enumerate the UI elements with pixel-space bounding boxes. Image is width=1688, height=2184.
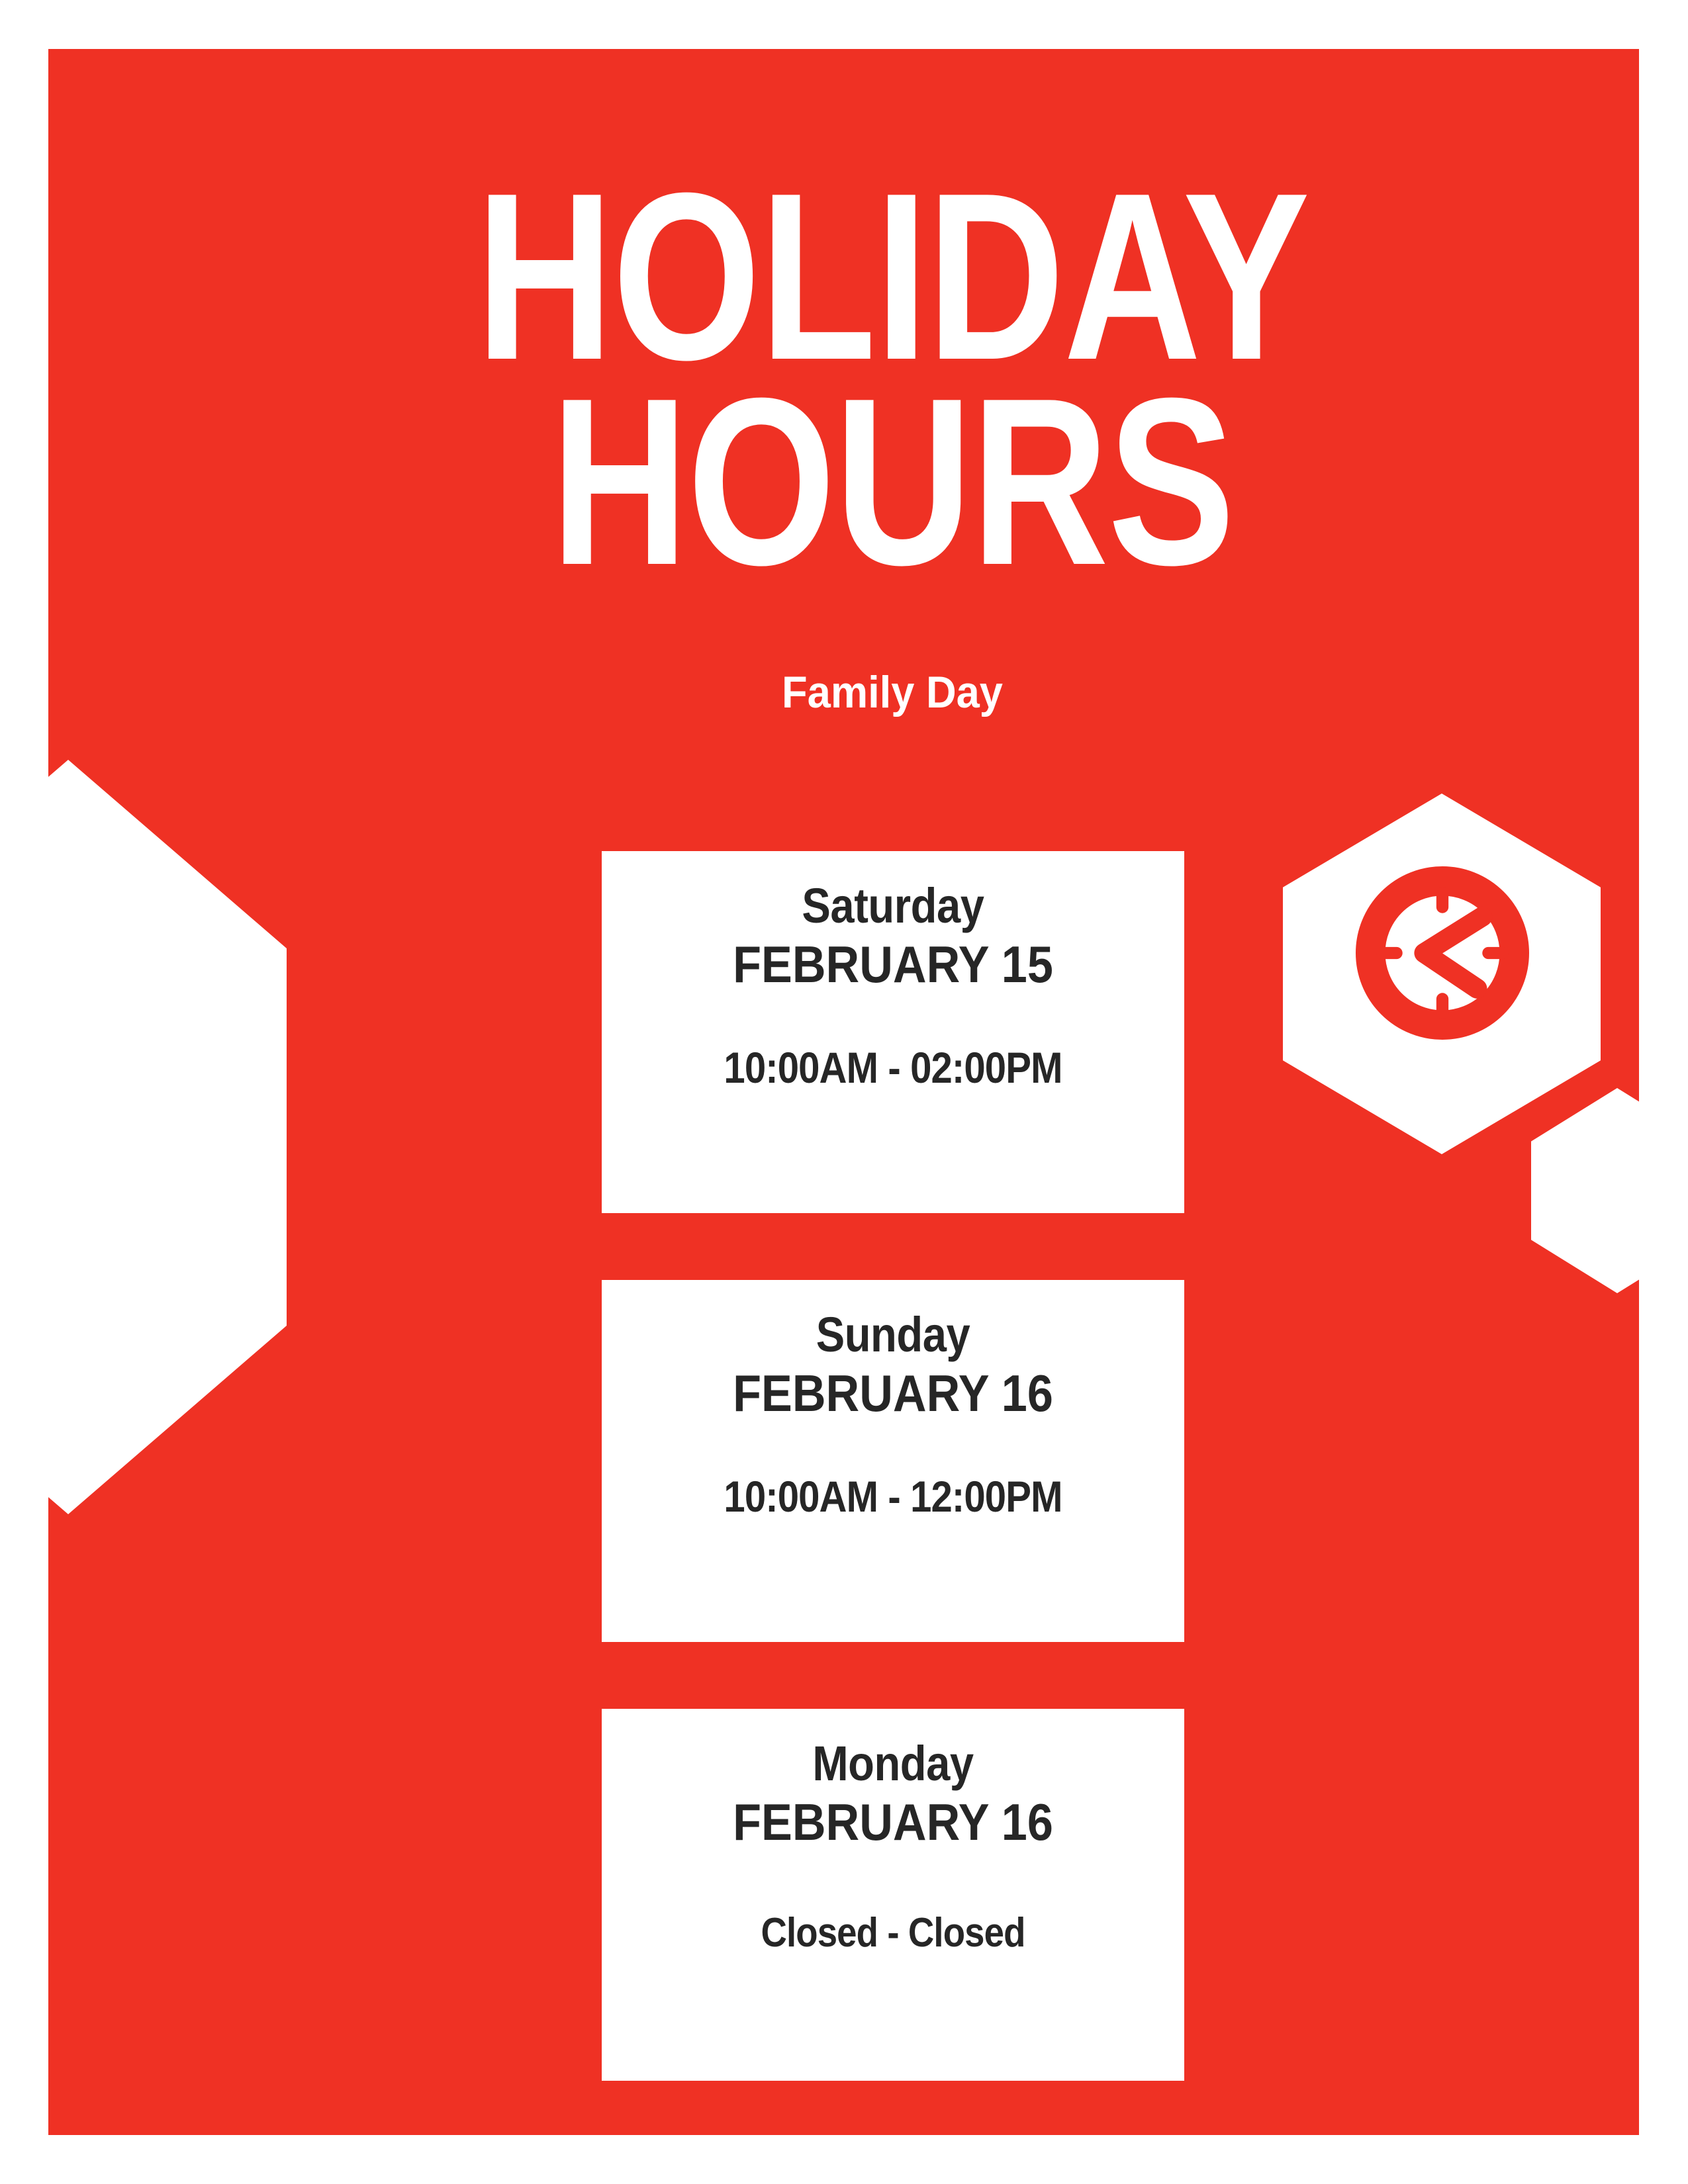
schedule-card-hours: 10:00AM - 12:00PM [637, 1473, 1149, 1521]
schedule-card-date: FEBRUARY 16 [631, 1792, 1155, 1852]
schedule-card-day: Saturday [637, 879, 1149, 934]
schedule-card[interactable]: Monday FEBRUARY 16 Closed - Closed [602, 1709, 1184, 2081]
hexagon-blob-shape [48, 760, 287, 1514]
poster-red-panel: HOLIDAY HOURS Family Day Saturday FEBRUA… [48, 49, 1639, 2135]
holiday-hours-poster: HOLIDAY HOURS Family Day Saturday FEBRUA… [0, 0, 1688, 2184]
schedule-card[interactable]: Saturday FEBRUARY 15 10:00AM - 02:00PM [602, 851, 1184, 1213]
hexagon-chip-shape [1531, 1088, 1639, 1293]
schedule-card-day: Sunday [637, 1308, 1149, 1363]
schedule-card-date: FEBRUARY 16 [631, 1363, 1155, 1424]
clock-icon [1356, 866, 1529, 1040]
schedule-card-date: FEBRUARY 15 [631, 934, 1155, 995]
page-title: HOLIDAY HOURS [281, 175, 1504, 584]
page-title-line-2: HOURS [281, 380, 1504, 585]
schedule-card-day: Monday [637, 1737, 1149, 1792]
schedule-card-hours: 10:00AM - 02:00PM [637, 1044, 1149, 1092]
schedule-card-hours: Closed - Closed [637, 1911, 1149, 1956]
page-subtitle: Family Day [181, 670, 1603, 715]
schedule-card[interactable]: Sunday FEBRUARY 16 10:00AM - 12:00PM [602, 1280, 1184, 1642]
